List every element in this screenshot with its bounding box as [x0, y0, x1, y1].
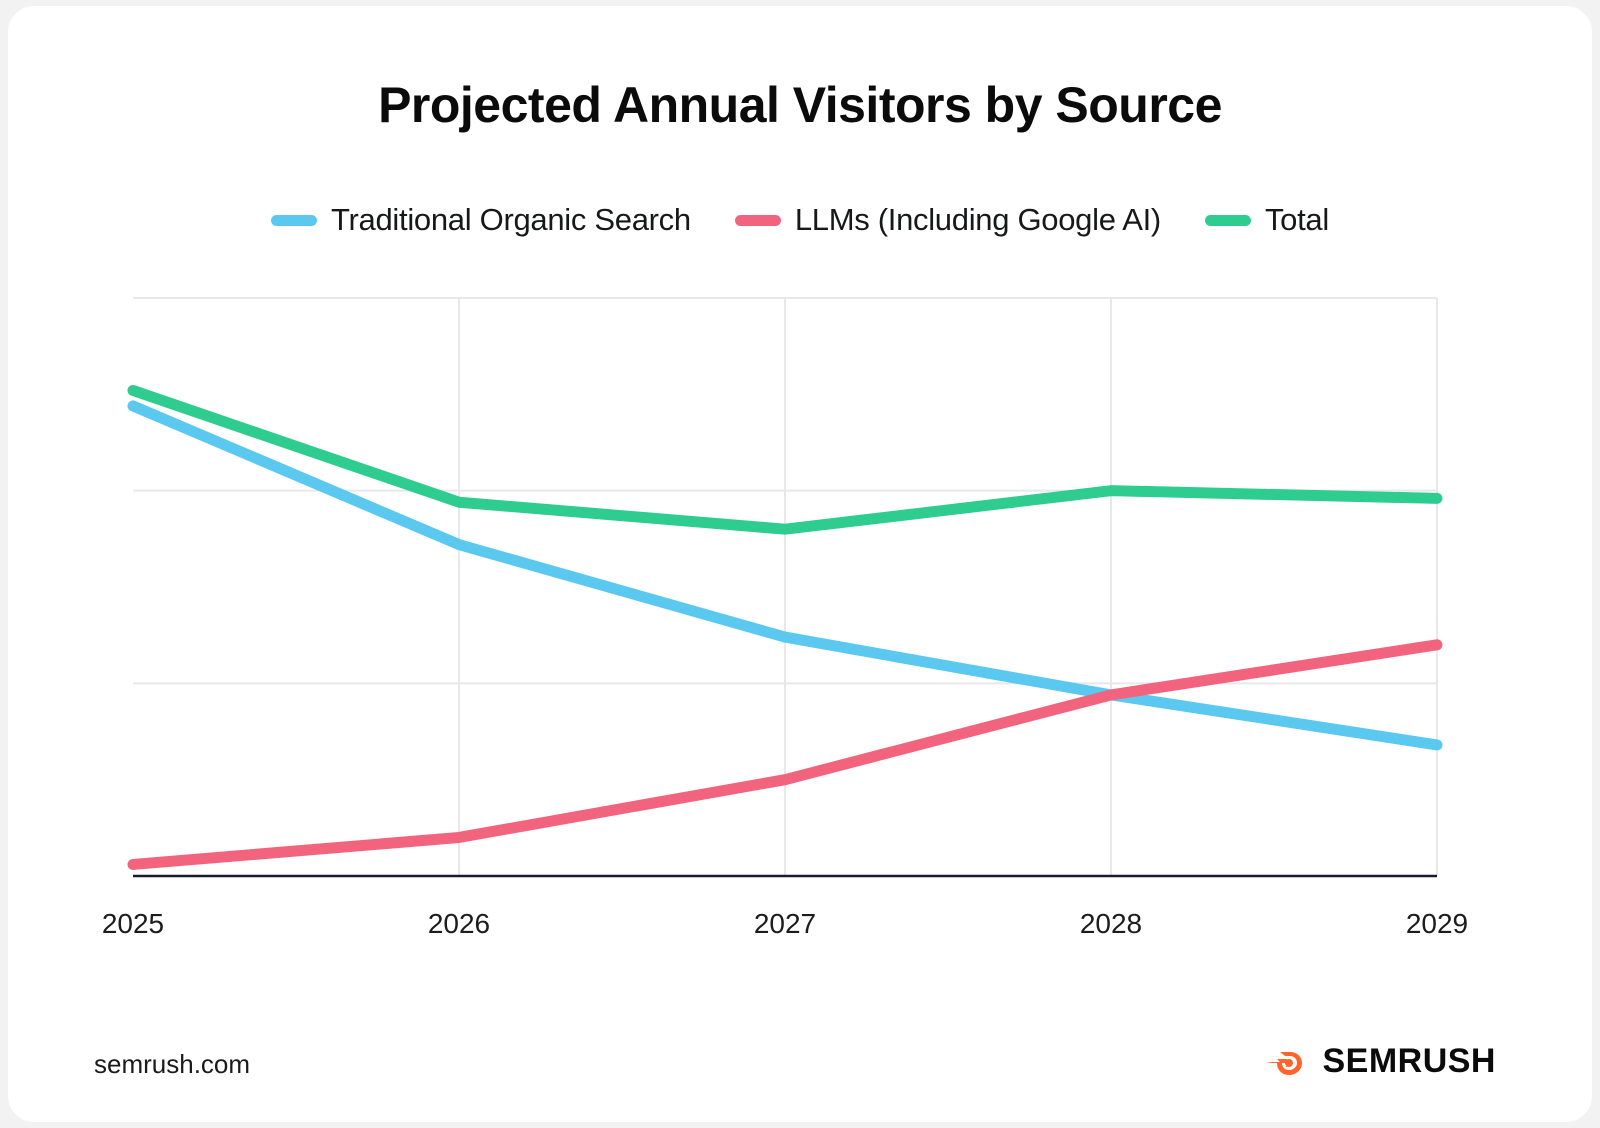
chart-card: Projected Annual Visitors by Source Trad… [8, 6, 1592, 1122]
x-axis-tick-label: 2029 [1406, 908, 1468, 939]
chart-page: Projected Annual Visitors by Source Trad… [0, 0, 1600, 1128]
gridlines [133, 298, 1437, 876]
x-axis: 20252026202720282029 [102, 876, 1468, 939]
source-url: semrush.com [94, 1049, 250, 1080]
plot-area: 20252026202720282029 [8, 6, 1592, 1122]
semrush-flame-icon [1266, 1045, 1308, 1079]
brand-name-label: SEMRUSH [1322, 1042, 1496, 1081]
x-axis-tick-label: 2026 [428, 908, 490, 939]
x-axis-tick-label: 2027 [754, 908, 816, 939]
x-axis-tick-label: 2028 [1080, 908, 1142, 939]
x-axis-tick-label: 2025 [102, 908, 164, 939]
line-chart-svg: 20252026202720282029 [8, 6, 1592, 1122]
semrush-logo: SEMRUSH [1266, 1042, 1496, 1081]
